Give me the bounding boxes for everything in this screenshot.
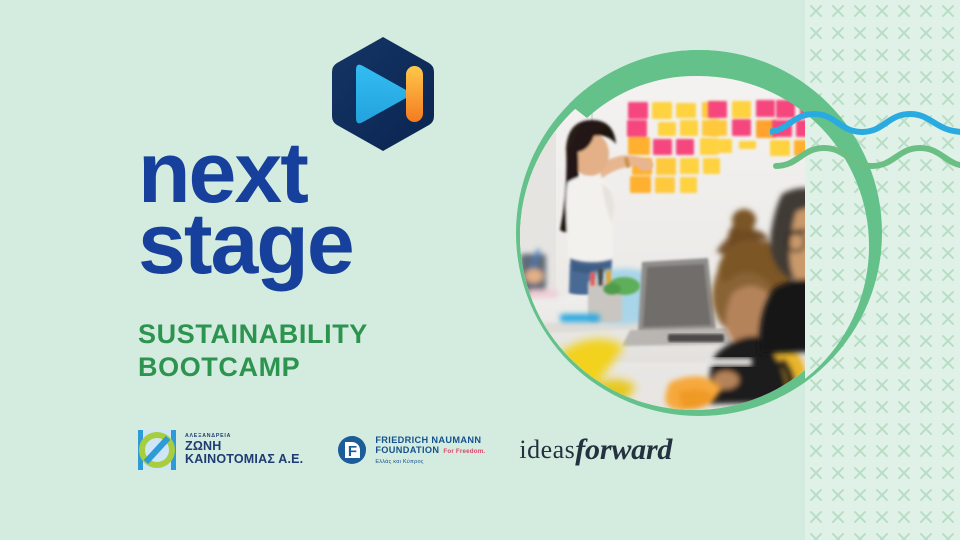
wave-lines-svg — [770, 108, 960, 178]
accent-bar — [406, 66, 423, 122]
partner-friedrich-naumann-foundation: F FRIEDRICH NAUMANN FOUNDATION For Freed… — [337, 435, 485, 465]
wave-green — [776, 148, 960, 166]
ideas-forward-line-1: ideas — [519, 438, 575, 462]
fnf-tagline: For Freedom. — [443, 449, 485, 456]
decorative-waves — [770, 108, 960, 178]
svg-text:F: F — [348, 443, 357, 460]
poster-canvas: next stage SUSTAINABILITY BOOTCAMP ΑΛΕΞΑ… — [0, 0, 960, 540]
azk-logo-icon — [136, 428, 178, 472]
fnf-line-1: FRIEDRICH NAUMANN — [375, 435, 485, 445]
fnf-circle-f-icon: F — [337, 435, 367, 465]
fnf-subline: Ελλάς και Κύπρος — [375, 459, 485, 465]
page-subtitle: SUSTAINABILITY BOOTCAMP — [138, 318, 368, 384]
brand-wordmark: next stage — [138, 134, 353, 284]
azk-line-2: ΚΑΙΝΟΤΟΜΙΑΣ Α.Ε. — [185, 453, 303, 466]
fnf-line-2: FOUNDATION — [375, 445, 439, 455]
wave-blue — [770, 114, 960, 132]
subtitle-line-2: BOOTCAMP — [138, 351, 368, 384]
partner-logos: ΑΛΕΞΑΝΔΡΕΙΑ ΖΩΝΗ ΚΑΙΝΟΤΟΜΙΑΣ Α.Ε. F FRIE… — [136, 428, 672, 472]
subtitle-line-1: SUSTAINABILITY — [138, 318, 368, 351]
wordmark-stage: stage — [138, 205, 353, 284]
partner-alexandria-innovation-zone: ΑΛΕΞΑΝΔΡΕΙΑ ΖΩΝΗ ΚΑΙΝΟΤΟΜΙΑΣ Α.Ε. — [136, 428, 303, 472]
photo-ring-overlay — [516, 50, 882, 416]
azk-logo-text: ΑΛΕΞΑΝΔΡΕΙΑ ΖΩΝΗ ΚΑΙΝΟΤΟΜΙΑΣ Α.Ε. — [185, 434, 303, 467]
fnf-line-2-row: FOUNDATION For Freedom. — [375, 445, 485, 456]
ideas-forward-line-2: forward — [575, 436, 672, 464]
partner-ideas-forward: ideas forward — [519, 436, 672, 464]
fnf-logo-text: FRIEDRICH NAUMANN FOUNDATION For Freedom… — [375, 435, 485, 465]
